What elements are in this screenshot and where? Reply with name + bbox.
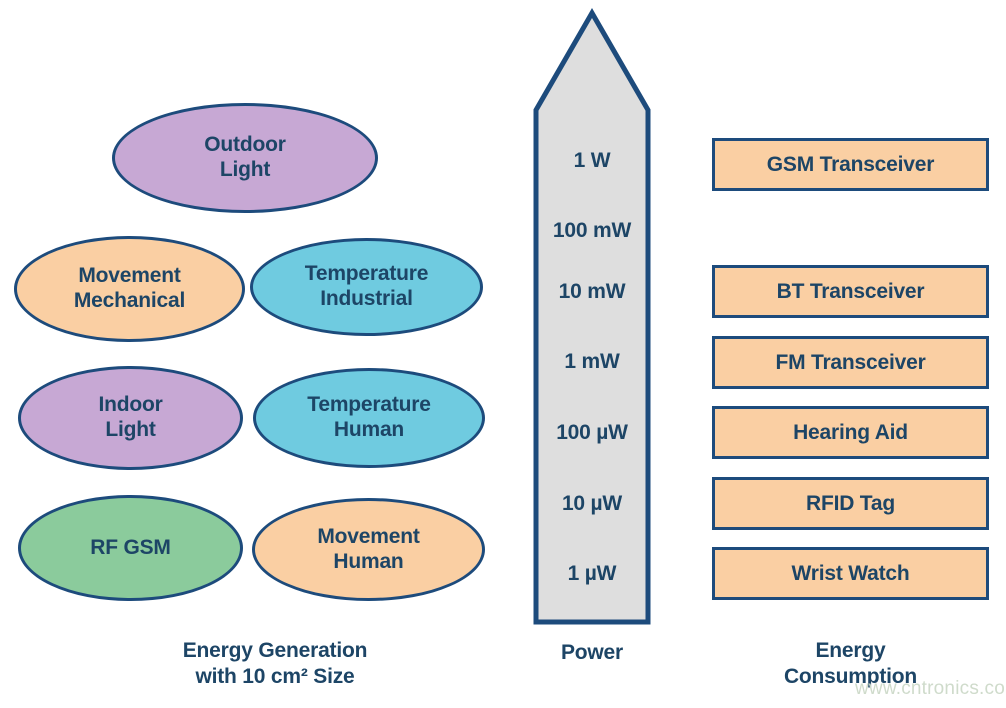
label-line-2: Human xyxy=(334,418,404,441)
power-scale-label-100mw: 100 mW xyxy=(530,219,654,243)
power-scale-label-10uw: 10 µW xyxy=(530,492,654,516)
generation-ellipse-rf-gsm[interactable]: RF GSM xyxy=(18,495,243,601)
generation-ellipse-label: Temperature Human xyxy=(297,393,440,443)
label-line-1: Indoor xyxy=(98,393,162,416)
generation-ellipse-temperature-human[interactable]: Temperature Human xyxy=(253,368,485,468)
power-scale-label-1uw: 1 µW xyxy=(530,562,654,586)
power-caption: Power xyxy=(530,640,654,666)
consumption-box-rfid-tag[interactable]: RFID Tag xyxy=(712,477,989,530)
label-line-1: Temperature xyxy=(305,262,428,285)
power-scale-label-10mw: 10 mW xyxy=(530,280,654,304)
label-line-1: Movement xyxy=(317,525,419,548)
generation-ellipse-temperature-industrial[interactable]: Temperature Industrial xyxy=(250,238,483,336)
label-line-2: Light xyxy=(220,158,270,181)
label-line-2: Industrial xyxy=(320,287,413,310)
caption-line-1: Energy xyxy=(816,639,886,662)
label-line-1: RF GSM xyxy=(90,536,170,559)
label-line-2: Light xyxy=(105,418,155,441)
power-scale-label-1w: 1 W xyxy=(530,149,654,173)
power-arrow-shape xyxy=(530,6,654,630)
power-scale-label-1mw: 1 mW xyxy=(530,350,654,374)
consumption-box-hearing-aid[interactable]: Hearing Aid xyxy=(712,406,989,459)
consumption-box-gsm-transceiver[interactable]: GSM Transceiver xyxy=(712,138,989,191)
generation-ellipse-indoor-light[interactable]: Indoor Light xyxy=(18,366,243,470)
consumption-box-wrist-watch[interactable]: Wrist Watch xyxy=(712,547,989,600)
label-line-2: Mechanical xyxy=(74,289,185,312)
power-arrow-polygon xyxy=(536,13,648,622)
generation-ellipse-label: Outdoor Light xyxy=(194,133,295,183)
generation-ellipse-movement-mechanical[interactable]: Movement Mechanical xyxy=(14,236,245,342)
label-line-1: Outdoor xyxy=(204,133,285,156)
consumption-box-fm-transceiver[interactable]: FM Transceiver xyxy=(712,336,989,389)
power-scale-label-100uw: 100 µW xyxy=(530,421,654,445)
label-line-1: Movement xyxy=(78,264,180,287)
label-line-1: Temperature xyxy=(307,393,430,416)
energy-generation-caption: Energy Generation with 10 cm² Size xyxy=(90,638,460,691)
diagram-canvas: Outdoor Light Movement Mechanical Temper… xyxy=(0,0,1006,708)
power-arrow-svg xyxy=(530,6,654,630)
generation-ellipse-label: Temperature Industrial xyxy=(295,262,438,312)
generation-ellipse-outdoor-light[interactable]: Outdoor Light xyxy=(112,103,378,213)
caption-line-1: Energy Generation xyxy=(183,639,367,662)
generation-ellipse-label: RF GSM xyxy=(80,536,180,561)
generation-ellipse-label: Indoor Light xyxy=(88,393,172,443)
generation-ellipse-label: Movement Human xyxy=(307,525,429,575)
consumption-box-bt-transceiver[interactable]: BT Transceiver xyxy=(712,265,989,318)
generation-ellipse-movement-human[interactable]: Movement Human xyxy=(252,498,485,601)
watermark-text: www.cntronics.com xyxy=(855,678,1006,700)
label-line-2: Human xyxy=(333,550,403,573)
caption-line-2: with 10 cm² Size xyxy=(195,665,354,688)
generation-ellipse-label: Movement Mechanical xyxy=(64,264,195,314)
